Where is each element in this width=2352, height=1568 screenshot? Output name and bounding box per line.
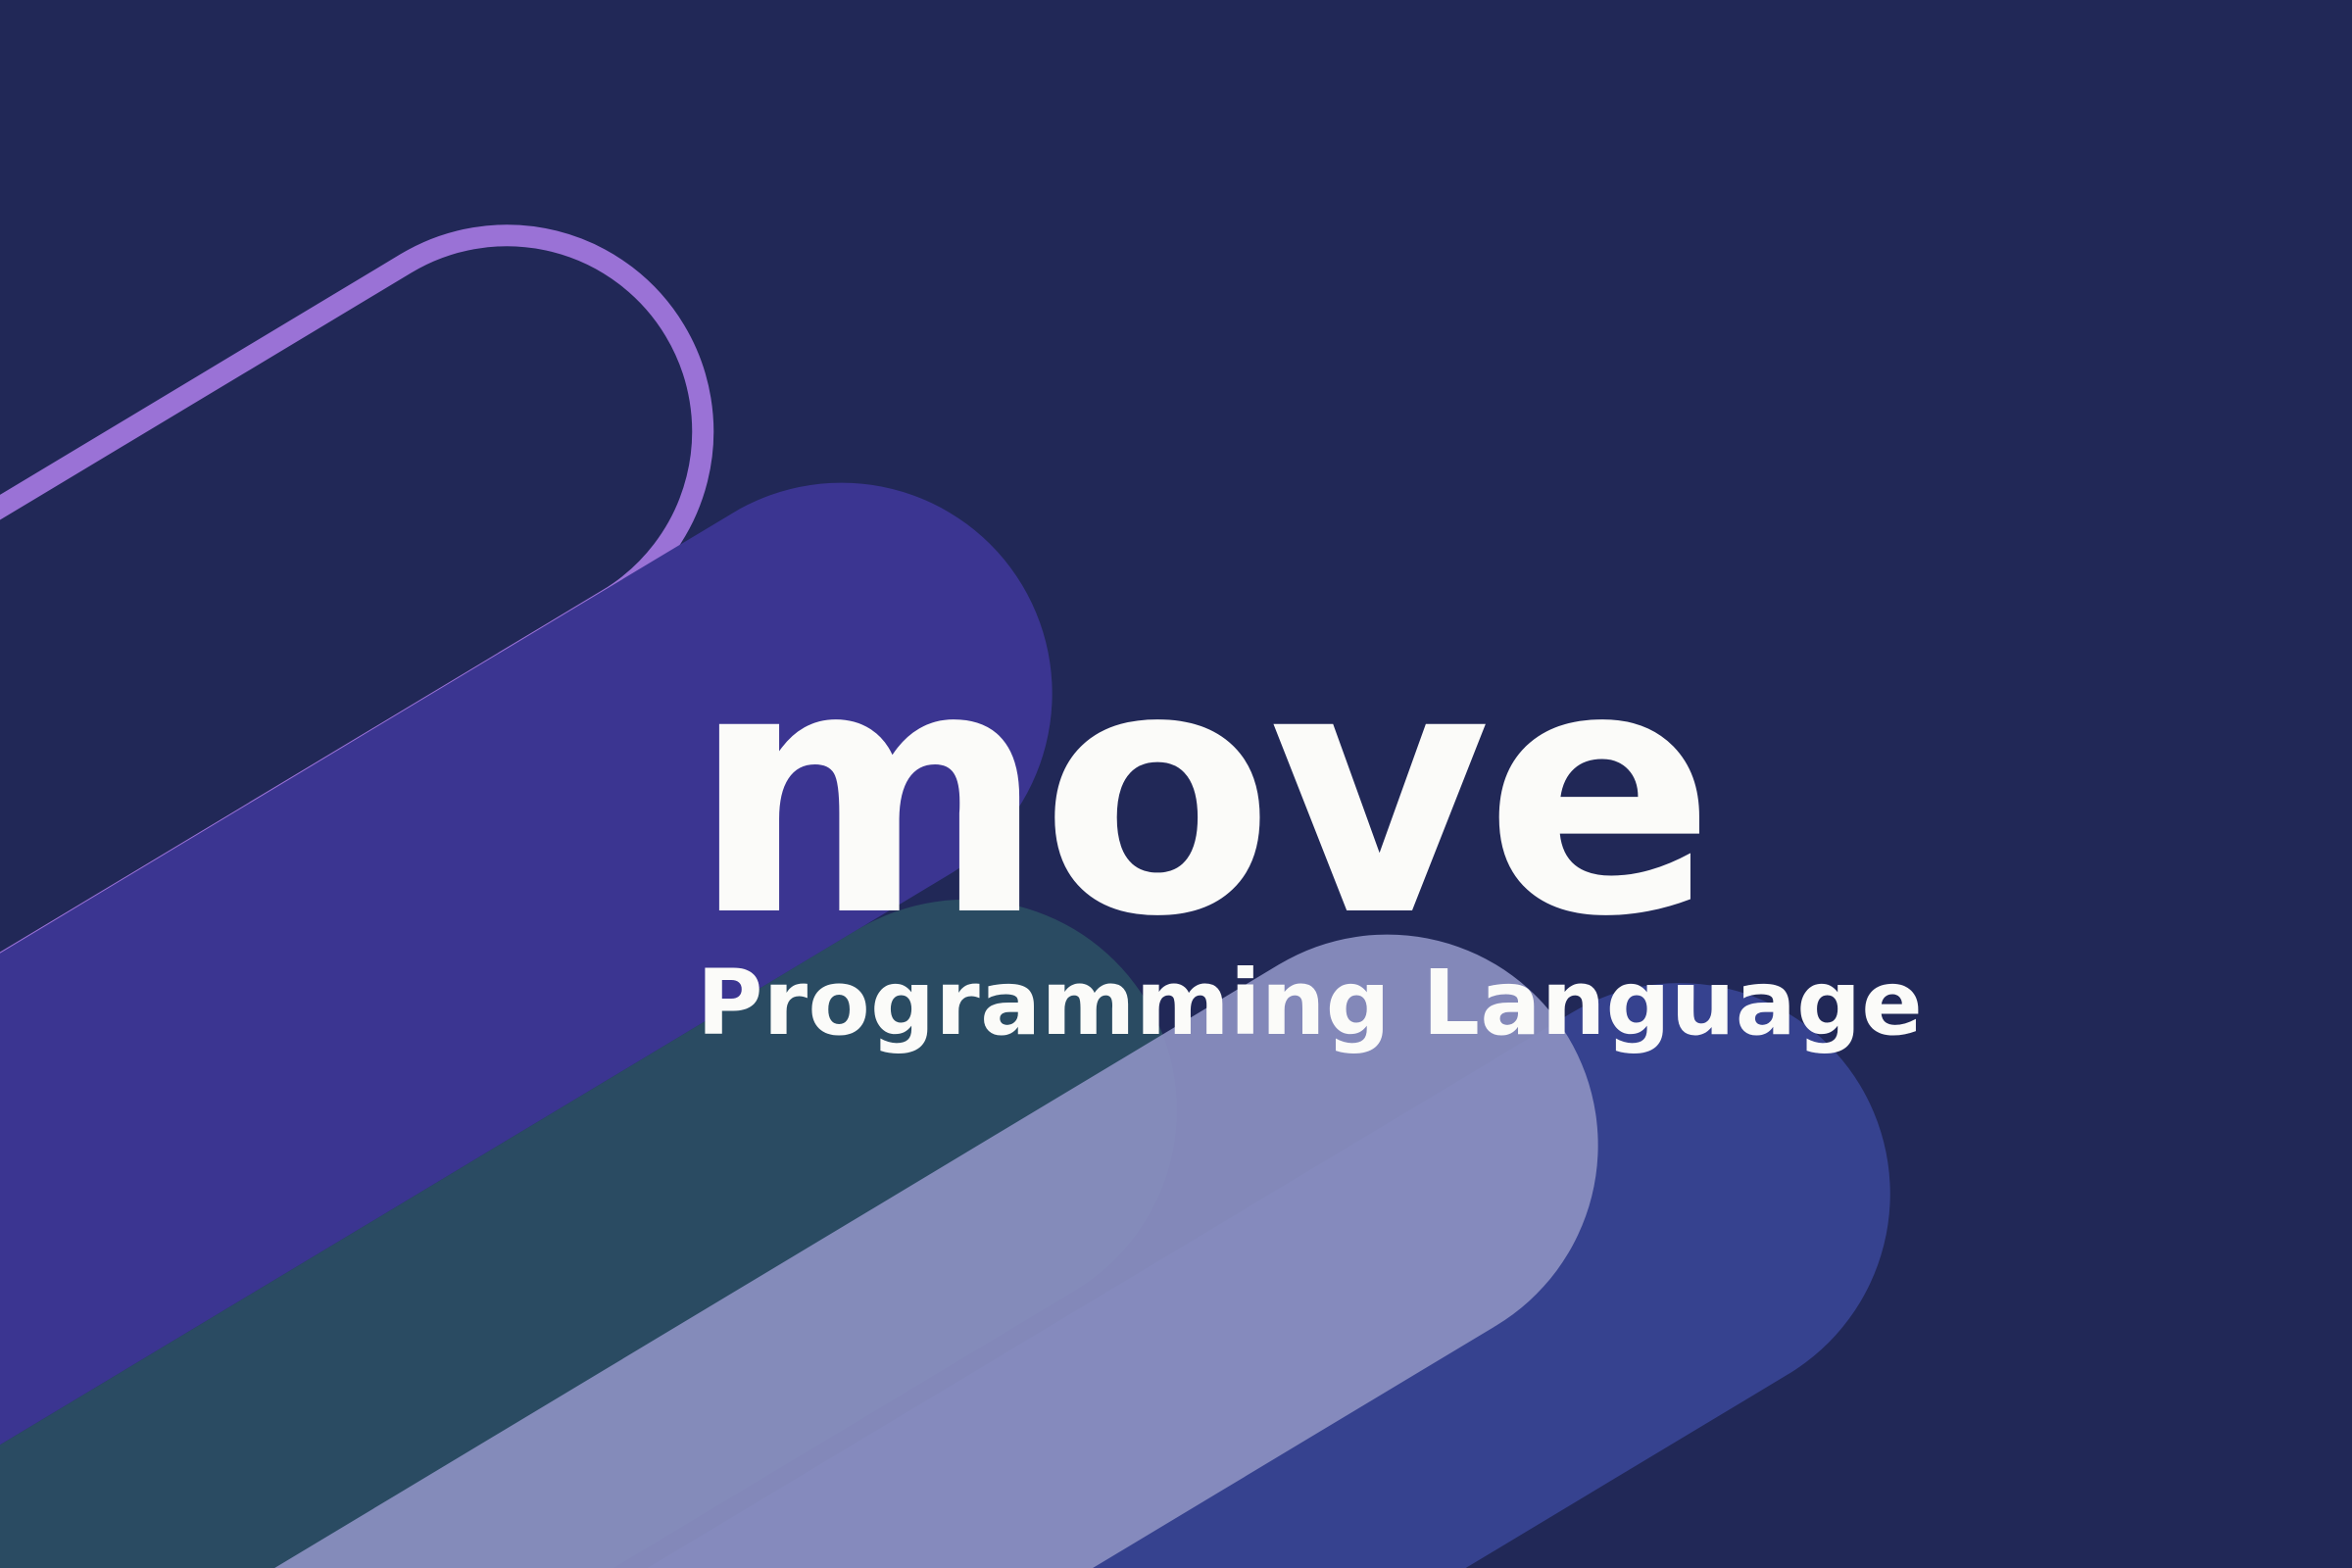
banner-canvas: move Programming Language bbox=[0, 0, 2352, 1568]
decorative-capsule-artwork bbox=[0, 0, 2352, 1568]
